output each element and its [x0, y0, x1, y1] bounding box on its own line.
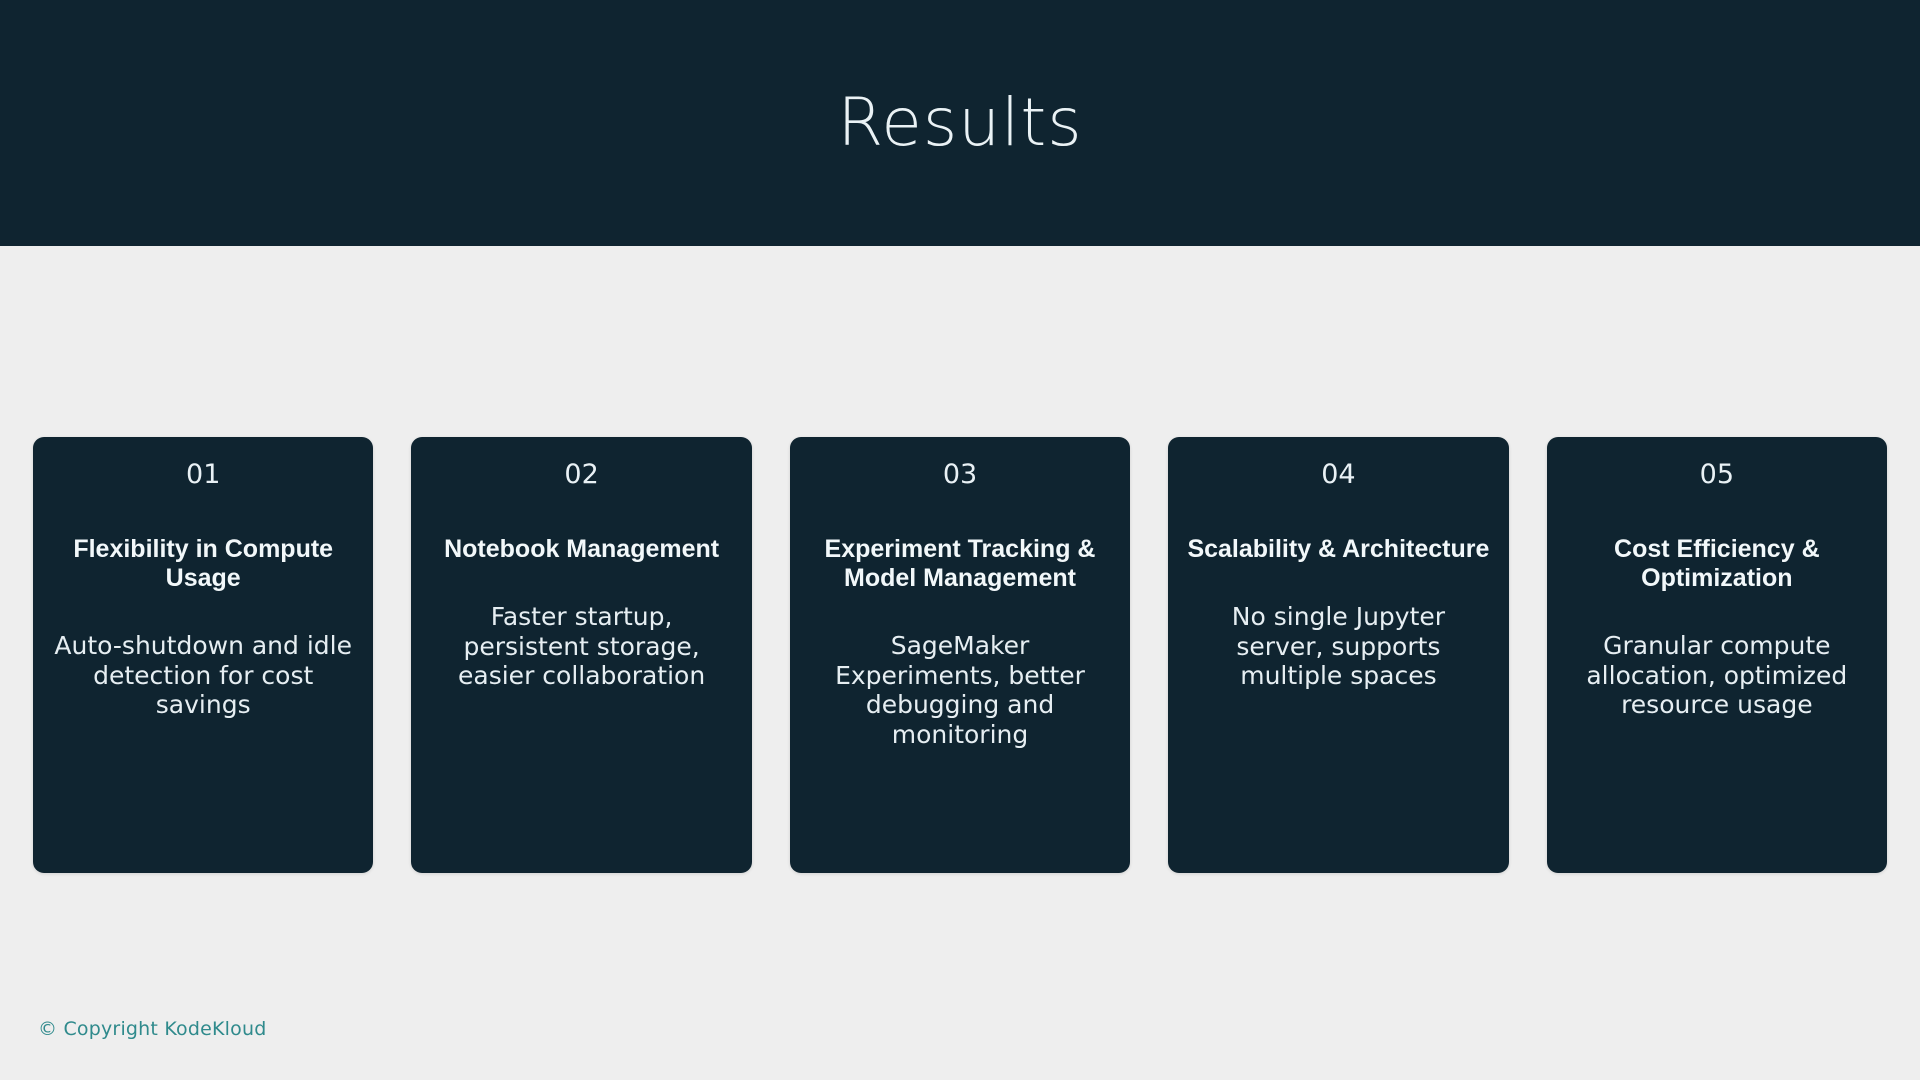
card-title: Notebook Management: [444, 535, 719, 564]
card-title: Flexibility in Compute Usage: [51, 535, 355, 593]
result-card-03: 03 Experiment Tracking & Model Managemen…: [790, 437, 1130, 873]
card-body: Granular compute allocation, optimized r…: [1565, 631, 1869, 720]
card-number: 01: [186, 459, 220, 491]
result-card-01: 01 Flexibility in Compute Usage Auto-shu…: [33, 437, 373, 873]
header-band: Results: [0, 0, 1920, 246]
card-body: Auto-shutdown and idle detection for cos…: [51, 631, 355, 720]
card-body: SageMaker Experiments, better debugging …: [808, 631, 1112, 749]
card-number: 04: [1321, 459, 1355, 491]
card-title: Cost Efficiency & Optimization: [1565, 535, 1869, 593]
footer-copyright: © Copyright KodeKloud: [38, 1018, 266, 1040]
result-card-04: 04 Scalability & Architecture No single …: [1168, 437, 1508, 873]
results-card-list: 01 Flexibility in Compute Usage Auto-shu…: [33, 437, 1887, 873]
card-number: 03: [943, 459, 977, 491]
card-body: No single Jupyter server, supports multi…: [1186, 602, 1490, 691]
result-card-02: 02 Notebook Management Faster startup, p…: [411, 437, 751, 873]
card-title: Experiment Tracking & Model Management: [808, 535, 1112, 593]
card-title: Scalability & Architecture: [1187, 535, 1489, 564]
result-card-05: 05 Cost Efficiency & Optimization Granul…: [1547, 437, 1887, 873]
card-body: Faster startup, persistent storage, easi…: [429, 602, 733, 691]
page-title: Results: [837, 90, 1082, 156]
card-number: 02: [564, 459, 598, 491]
card-number: 05: [1700, 459, 1734, 491]
